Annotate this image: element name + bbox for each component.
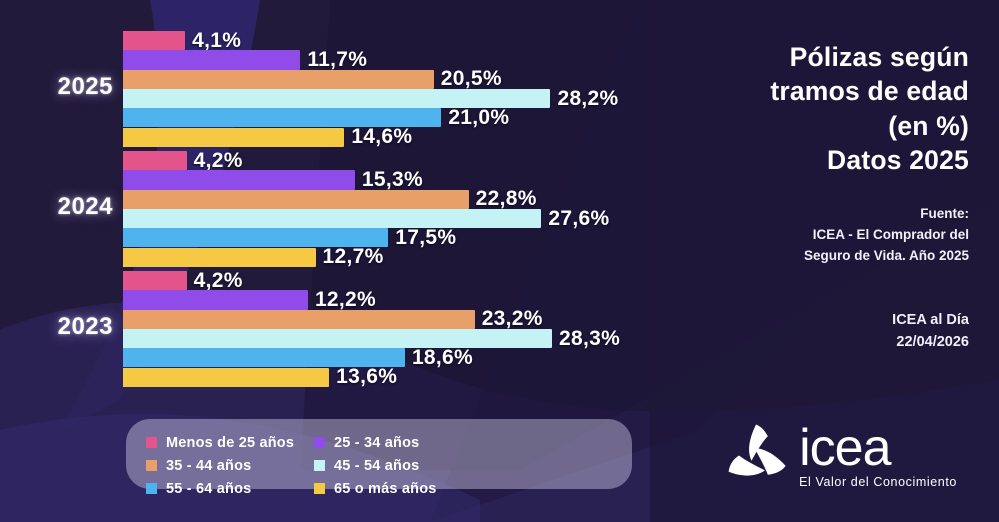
bar-value-label: 18,6% — [412, 346, 473, 370]
bar-value-label: 13,6% — [336, 365, 397, 389]
bar-value-label: 11,7% — [307, 48, 367, 72]
legend-item[interactable]: 65 o más años — [314, 477, 482, 500]
group-year-label: 2024 — [28, 193, 113, 221]
title-line: Pólizas según — [639, 40, 969, 74]
legend-item-label: Menos de 25 años — [166, 435, 294, 451]
bar-segment — [123, 271, 187, 290]
bar-segment — [123, 70, 434, 89]
bar-segment — [123, 170, 355, 189]
legend-item-label: 25 - 34 años — [334, 435, 419, 451]
legend-color-swatch — [146, 483, 157, 494]
bar-value-label: 4,2% — [194, 269, 243, 293]
icea-trefoil-logo-icon — [719, 420, 793, 494]
bar-group: 20244,2%15,3%22,8%27,6%17,5%12,7% — [0, 151, 680, 267]
group-year-label: 2025 — [28, 73, 113, 101]
bar-value-label: 21,0% — [448, 106, 509, 130]
bar-row: 14,6% — [123, 128, 412, 147]
bar-segment — [123, 50, 300, 69]
bar-value-label: 20,5% — [441, 67, 502, 91]
source-line: Seguro de Vida. Año 2025 — [639, 246, 969, 267]
logo-tagline: El Valor del Conocimiento — [799, 475, 957, 489]
bar-row: 23,2% — [123, 310, 543, 329]
bar-segment — [123, 31, 185, 50]
legend-color-swatch — [146, 437, 157, 448]
bar-value-label: 22,8% — [476, 187, 537, 211]
title-line: tramos de edad — [639, 74, 969, 108]
brand-logo: icea El Valor del Conocimiento — [719, 420, 957, 494]
legend-item-label: 55 - 64 años — [166, 481, 251, 497]
bar-row: 28,2% — [123, 89, 619, 108]
bar-row: 15,3% — [123, 170, 423, 189]
date-line: ICEA al Día — [639, 310, 969, 332]
bar-row: 4,1% — [123, 31, 241, 50]
legend-item-label: 65 o más años — [334, 481, 437, 497]
legend-color-swatch — [146, 460, 157, 471]
bar-value-label: 4,2% — [194, 149, 243, 173]
group-year-label: 2023 — [28, 313, 113, 341]
bar-value-label: 28,2% — [557, 87, 618, 111]
bar-value-label: 12,2% — [315, 288, 376, 312]
legend-color-swatch — [314, 483, 325, 494]
bar-value-label: 23,2% — [482, 307, 543, 331]
bar-value-label: 28,3% — [559, 327, 620, 351]
title-line: Datos 2025 — [639, 143, 969, 177]
bar-value-label: 17,5% — [395, 226, 456, 250]
bar-row: 22,8% — [123, 190, 537, 209]
bar-group: 20254,1%11,7%20,5%28,2%21,0%14,6% — [0, 31, 680, 147]
bar-row: 13,6% — [123, 368, 397, 387]
legend-item-label: 45 - 54 años — [334, 458, 419, 474]
bar-row: 20,5% — [123, 70, 502, 89]
legend-item[interactable]: 45 - 54 años — [314, 454, 482, 477]
bar-value-label: 14,6% — [351, 125, 412, 149]
source-note: Fuente:ICEA - El Comprador delSeguro de … — [639, 204, 969, 267]
bar-value-label: 12,7% — [323, 245, 384, 269]
bar-row: 18,6% — [123, 348, 473, 367]
bar-value-label: 4,1% — [192, 29, 241, 53]
bar-value-label: 27,6% — [548, 207, 609, 231]
bar-segment — [123, 151, 187, 170]
bar-row: 17,5% — [123, 228, 456, 247]
bar-segment — [123, 248, 316, 267]
legend-item[interactable]: 35 - 44 años — [146, 454, 314, 477]
bar-segment — [123, 209, 541, 228]
legend-item[interactable]: Menos de 25 años — [146, 431, 314, 454]
legend-item[interactable]: 55 - 64 años — [146, 477, 314, 500]
source-line: ICEA - El Comprador del — [639, 225, 969, 246]
bar-segment — [123, 310, 475, 329]
legend-item[interactable]: 25 - 34 años — [314, 431, 482, 454]
bar-segment — [123, 329, 552, 348]
bar-row: 28,3% — [123, 329, 620, 348]
bar-segment — [123, 190, 469, 209]
page-title: Pólizas segúntramos de edad(en %)Datos 2… — [639, 40, 969, 178]
legend-color-swatch — [314, 437, 325, 448]
publication-date: ICEA al Día22/04/2026 — [639, 310, 969, 354]
date-line: 22/04/2026 — [639, 332, 969, 354]
bar-group: 20234,2%12,2%23,2%28,3%18,6%13,6% — [0, 271, 680, 387]
chart-legend: Menos de 25 años25 - 34 años35 - 44 años… — [126, 419, 632, 489]
bar-segment — [123, 128, 344, 147]
bar-row: 27,6% — [123, 209, 609, 228]
bar-segment — [123, 368, 329, 387]
title-line: (en %) — [639, 109, 969, 143]
infographic-canvas: 20254,1%11,7%20,5%28,2%21,0%14,6%20244,2… — [0, 0, 999, 522]
bar-row: 12,7% — [123, 248, 384, 267]
bar-chart-plot: 20254,1%11,7%20,5%28,2%21,0%14,6%20244,2… — [0, 0, 680, 410]
bar-segment — [123, 290, 308, 309]
bar-value-label: 15,3% — [362, 168, 423, 192]
logo-wordmark: icea — [799, 425, 957, 473]
bar-row: 21,0% — [123, 108, 509, 127]
legend-color-swatch — [314, 460, 325, 471]
bar-row: 12,2% — [123, 290, 376, 309]
legend-item-label: 35 - 44 años — [166, 458, 251, 474]
bar-row: 4,2% — [123, 271, 243, 290]
source-line: Fuente: — [639, 204, 969, 225]
bar-row: 11,7% — [123, 50, 367, 69]
bar-row: 4,2% — [123, 151, 243, 170]
